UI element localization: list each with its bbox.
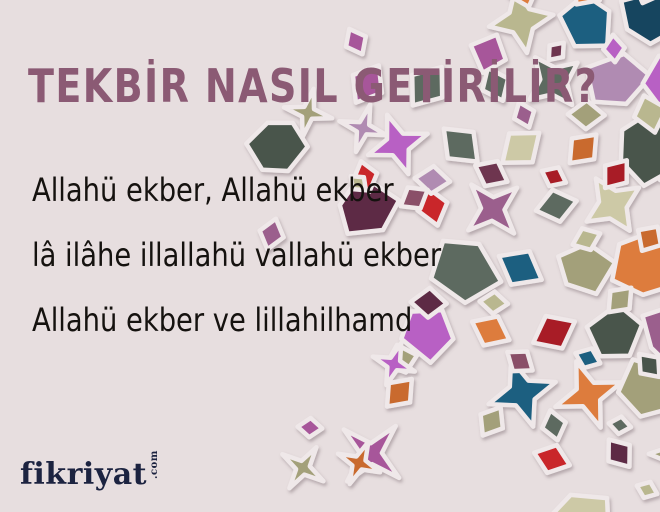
dhikr-line-3: Allahü ekber ve lillahilhamd [32,288,479,353]
dhikr-line-2: lâ ilâhe illallahü vallahü ekber [32,223,479,288]
fikriyat-logo: fikriyat .com [20,460,179,490]
page-title: TEKBİR NASIL GETİRİLİR? [28,60,598,112]
dhikr-line-1: Allahü ekber, Allahü ekber [32,158,479,223]
poster-canvas: TEKBİR NASIL GETİRİLİR? Allahü ekber, Al… [0,0,660,512]
poster-content: TEKBİR NASIL GETİRİLİR? Allahü ekber, Al… [0,0,660,512]
dhikr-lines: Allahü ekber, Allahü ekber lâ ilâhe illa… [32,158,502,353]
logo-wordmark: fikriyat [20,460,147,490]
logo-tld: .com [150,450,160,479]
